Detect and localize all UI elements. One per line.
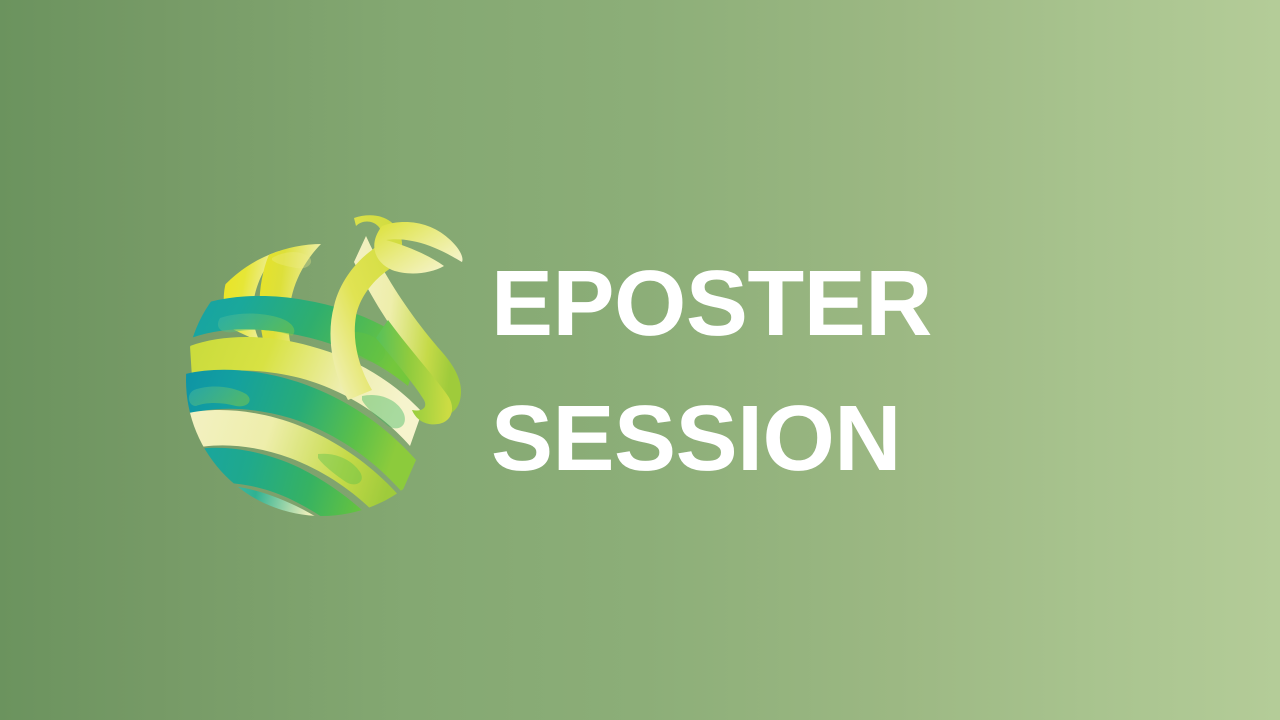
leaf-icon: [374, 222, 462, 273]
slide-canvas: EPOSTER SESSION: [0, 0, 1280, 720]
wordmark: EPOSTER SESSION: [491, 236, 1131, 506]
wordmark-line-eposter: EPOSTER: [491, 236, 1131, 371]
ribbon-band-8: [202, 485, 384, 596]
wordmark-line-session: SESSION: [491, 371, 1131, 506]
globe-ribbon-leaf-logo: [176, 200, 468, 516]
